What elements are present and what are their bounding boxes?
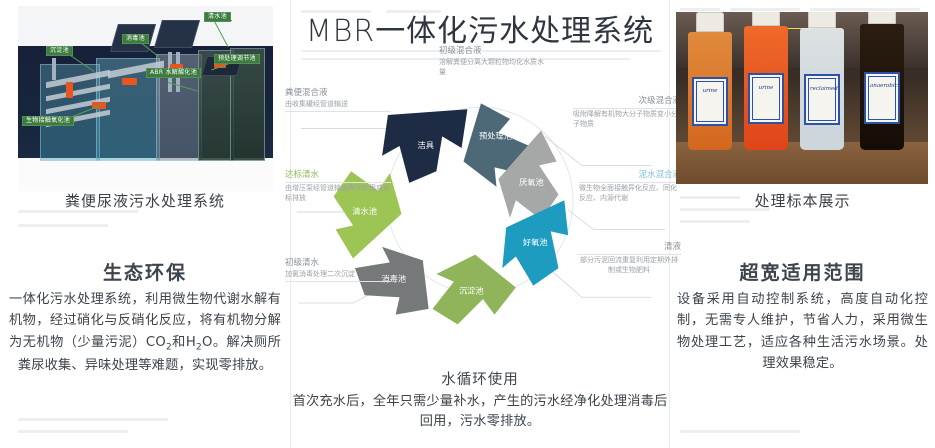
- illustration-floor: [18, 158, 273, 191]
- sample-bottles-photo: urine urine reclaimed anaerobic: [676, 12, 928, 184]
- annotation-detail: 吸附降解有机物大分子物质变小分子物质: [573, 108, 681, 129]
- annotation-cijihunheye: 次级混合液 吸附降解有机物大分子物质变小分子物质: [573, 96, 681, 129]
- flow-arrow-icon: [122, 78, 137, 85]
- bottle-label-line1: reclaimed: [810, 85, 834, 93]
- annotation-detail: 加氯消毒处理二次沉淀: [285, 270, 391, 281]
- annotation-dabiaoqingshui: 达标清水 由增压泵经管道输送再次利用或达标排放: [285, 170, 391, 203]
- annotation-heading: 初级混合液: [439, 46, 549, 57]
- page-title-cjk: 一体化污水处理系统: [375, 14, 654, 49]
- sample-bottle: reclaimed: [800, 28, 844, 150]
- wheel-label-haoyangchi: 好氧池: [523, 237, 548, 247]
- wheel-label-jieju: 洁具: [417, 140, 433, 150]
- annotation-detail: 部分污泥回流重复利用定期外排制或生物肥料: [577, 254, 681, 275]
- right-feature-title: 超宽适用范围: [677, 258, 928, 285]
- left-feature-text-b: 和H: [172, 335, 196, 350]
- annotation-qingye: 清液 部分污泥回流重复利用定期外排制或生物肥料: [577, 242, 681, 275]
- sample-bottle: urine: [744, 26, 788, 150]
- bottle-label-line1: anaerobic: [870, 82, 894, 90]
- left-feature-block: 生态环保 一体化污水处理系统，利用微生物代谢水解有机物，经过硝化与反硝化反应，将…: [0, 258, 290, 376]
- page-title: MBR一体化污水处理系统: [291, 6, 669, 50]
- annotation-detail: 溶解粪便分离大颗粒物均化水质水量: [439, 58, 549, 77]
- right-panel: urine urine reclaimed anaerobic: [670, 0, 935, 448]
- annotation-heading: 粪便混合液: [285, 88, 391, 99]
- annotation-heading: 泥水混合液: [579, 170, 681, 181]
- wheel-label-chendianchi: 沉淀池: [459, 285, 484, 295]
- bottle-cap: [868, 12, 896, 24]
- annotation-heading: 达标清水: [285, 170, 391, 181]
- annotation-heading: 清液: [577, 242, 681, 253]
- right-feature-text: 设备采用自动控制系统，高度自动化控制，无需专人维护，节省人力，采用微生物处理工艺…: [677, 289, 928, 375]
- annotation-detail: 由收集罐经管道输送: [285, 100, 391, 111]
- bottle-label: anaerobic: [864, 72, 900, 124]
- center-caption-block: 水循环使用 首次充水后，全年只需少量补水，产生的污水经净化处理消毒后回用，污水零…: [291, 368, 669, 433]
- left-panel: 清水池 消毒池 沉淀池 预处理调节池 ABR 水解酸化池 生物接触氧化池 粪便尿…: [0, 0, 290, 448]
- annotation-heading: 初级清水: [285, 258, 391, 269]
- annotation-nishuihunheye: 泥水混合液 微生物全面接触异化反应、同化反应、内源代谢: [579, 170, 681, 203]
- annotation-detail: 微生物全面接触异化反应、同化反应、内源代谢: [579, 182, 681, 203]
- illustration-label-xiaoduchi: 消毒池: [122, 34, 149, 44]
- left-illustration-caption: 粪便尿液污水处理系统: [0, 190, 290, 211]
- illustration-label-chendianchi: 沉淀池: [46, 46, 73, 56]
- right-feature-block: 超宽适用范围 设备采用自动控制系统，高度自动化控制，无需专人维护，节省人力，采用…: [670, 258, 935, 375]
- annotation-detail: 由增压泵经管道输送再次利用或达标排放: [285, 182, 391, 203]
- bottle-label-line1: urine: [698, 87, 722, 95]
- sample-bottle: anaerobic: [860, 24, 904, 150]
- tank-lid: [154, 20, 200, 48]
- illustration-label-qingshuichi: 清水池: [204, 12, 231, 22]
- bottle-label: reclaimed: [804, 74, 840, 124]
- center-caption-title: 水循环使用: [291, 368, 669, 389]
- water-cycle-diagram: 洁具 预处理池 厌氧池 好氧池 沉淀池 消毒池: [291, 60, 669, 360]
- left-feature-text: 一体化污水处理系统，利用微生物代谢水解有机物，经过硝化与反硝化反应，将有机物分解…: [9, 289, 281, 376]
- illustration-label-abr: ABR 水解酸化池: [146, 68, 201, 78]
- bottle-cap: [696, 12, 724, 32]
- bottle-label: urine: [692, 77, 728, 126]
- annotation-heading: 次级混合液: [573, 96, 681, 107]
- bottle-label-line1: urine: [754, 84, 778, 92]
- right-photo-caption: 处理标本展示: [670, 190, 935, 211]
- annotation-chujihunheye: 初级混合液 溶解粪便分离大颗粒物均化水质水量: [439, 46, 549, 77]
- pipe-graphic: [52, 58, 56, 80]
- bottle-label: urine: [748, 73, 784, 124]
- wheel-label-yanyangchi: 厌氧池: [519, 177, 544, 187]
- annotation-fenbianhunheye: 粪便混合液 由收集罐经管道输送: [285, 88, 391, 112]
- annotation-chujiqingshui: 初级清水 加氯消毒处理二次沉淀: [285, 258, 391, 282]
- bottle-cap: [752, 12, 780, 26]
- illustration-label-yuchuli: 预处理调节池: [214, 54, 260, 64]
- illustration-label-shengwu: 生物接触氧化池: [22, 116, 74, 126]
- left-feature-title: 生态环保: [9, 258, 281, 285]
- wastewater-system-illustration: 清水池 消毒池 沉淀池 预处理调节池 ABR 水解酸化池 生物接触氧化池: [18, 6, 273, 191]
- center-panel: MBR一体化污水处理系统: [290, 0, 670, 448]
- sample-bottle: urine: [688, 32, 732, 150]
- center-caption-text: 首次充水后，全年只需少量补水，产生的污水经净化处理消毒后回用，污水零排放。: [291, 392, 669, 433]
- page-title-latin: MBR: [306, 14, 375, 49]
- bottle-cap: [808, 12, 836, 28]
- wheel-label-qingshuichi: 清水池: [352, 206, 377, 216]
- wheel-label-yuchulichi: 预处理池: [479, 130, 512, 140]
- poster-root: 清水池 消毒池 沉淀池 预处理调节池 ABR 水解酸化池 生物接触氧化池 粪便尿…: [0, 0, 935, 448]
- flow-arrow-icon: [66, 82, 73, 98]
